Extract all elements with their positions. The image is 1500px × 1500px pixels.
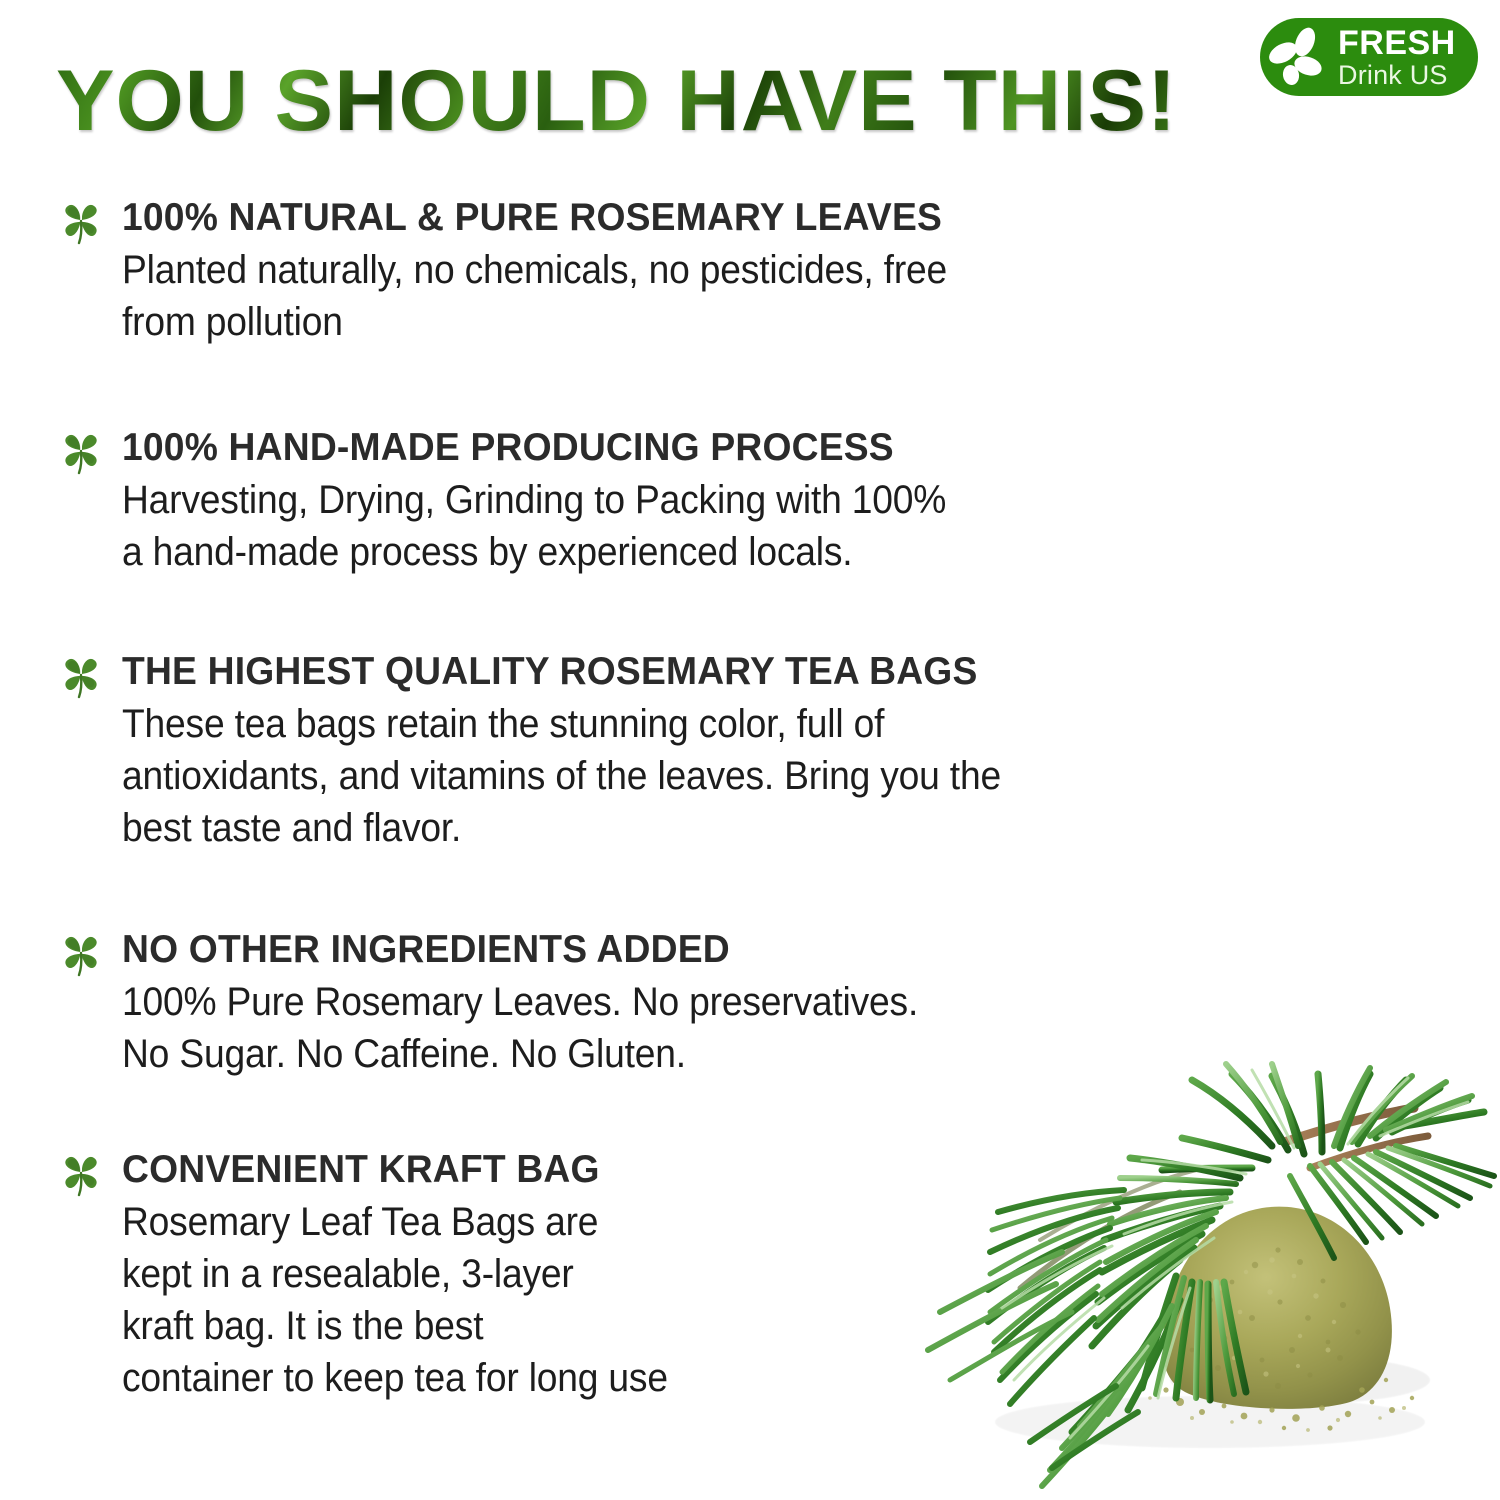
- list-item: CONVENIENT KRAFT BAG Rosemary Leaf Tea B…: [58, 1148, 709, 1404]
- feature-description: Harvesting, Drying, Grinding to Packing …: [122, 474, 946, 578]
- feature-description: These tea bags retain the stunning color…: [122, 698, 1001, 854]
- four-leaf-clover-icon: [58, 198, 104, 246]
- leaf-cluster-icon: [1260, 18, 1336, 96]
- four-leaf-clover-icon: [58, 652, 104, 700]
- four-leaf-clover-icon: [58, 428, 104, 476]
- feature-description: 100% Pure Rosemary Leaves. No preservati…: [122, 976, 918, 1080]
- brand-name-primary: FRESH: [1338, 26, 1456, 60]
- brand-logo-text: FRESH Drink US: [1336, 26, 1456, 89]
- list-item: NO OTHER INGREDIENTS ADDED 100% Pure Ros…: [58, 928, 978, 1080]
- list-item-body: 100% HAND-MADE PRODUCING PROCESS Harvest…: [122, 426, 1008, 578]
- rosemary-sprigs-and-powder-photo: [880, 1050, 1500, 1500]
- list-item-body: THE HIGHEST QUALITY ROSEMARY TEA BAGS Th…: [122, 650, 1067, 854]
- feature-description: Planted naturally, no chemicals, no pest…: [122, 244, 947, 348]
- feature-title: THE HIGHEST QUALITY ROSEMARY TEA BAGS: [122, 650, 1025, 694]
- four-leaf-clover-icon: [58, 930, 104, 978]
- four-leaf-clover-icon: [58, 1150, 104, 1198]
- list-item: 100% NATURAL & PURE ROSEMARY LEAVES Plan…: [58, 196, 1009, 348]
- brand-logo: FRESH Drink US: [1260, 18, 1478, 96]
- feature-title: 100% HAND-MADE PRODUCING PROCESS: [122, 426, 968, 470]
- list-item: THE HIGHEST QUALITY ROSEMARY TEA BAGS Th…: [58, 650, 1067, 854]
- list-item: 100% HAND-MADE PRODUCING PROCESS Harvest…: [58, 426, 1008, 578]
- page-title: YOU SHOULD HAVE THIS!: [56, 58, 1177, 144]
- list-item-body: CONVENIENT KRAFT BAG Rosemary Leaf Tea B…: [122, 1148, 709, 1404]
- feature-title: 100% NATURAL & PURE ROSEMARY LEAVES: [122, 196, 969, 240]
- feature-description: Rosemary Leaf Tea Bags are kept in a res…: [122, 1196, 668, 1404]
- list-item-body: 100% NATURAL & PURE ROSEMARY LEAVES Plan…: [122, 196, 1009, 348]
- list-item-body: NO OTHER INGREDIENTS ADDED 100% Pure Ros…: [122, 928, 978, 1080]
- feature-title: NO OTHER INGREDIENTS ADDED: [122, 928, 940, 972]
- infographic-page: FRESH Drink US YOU SHOULD HAVE THIS!: [0, 0, 1500, 1500]
- feature-title: CONVENIENT KRAFT BAG: [122, 1148, 683, 1192]
- brand-name-secondary: Drink US: [1338, 62, 1456, 89]
